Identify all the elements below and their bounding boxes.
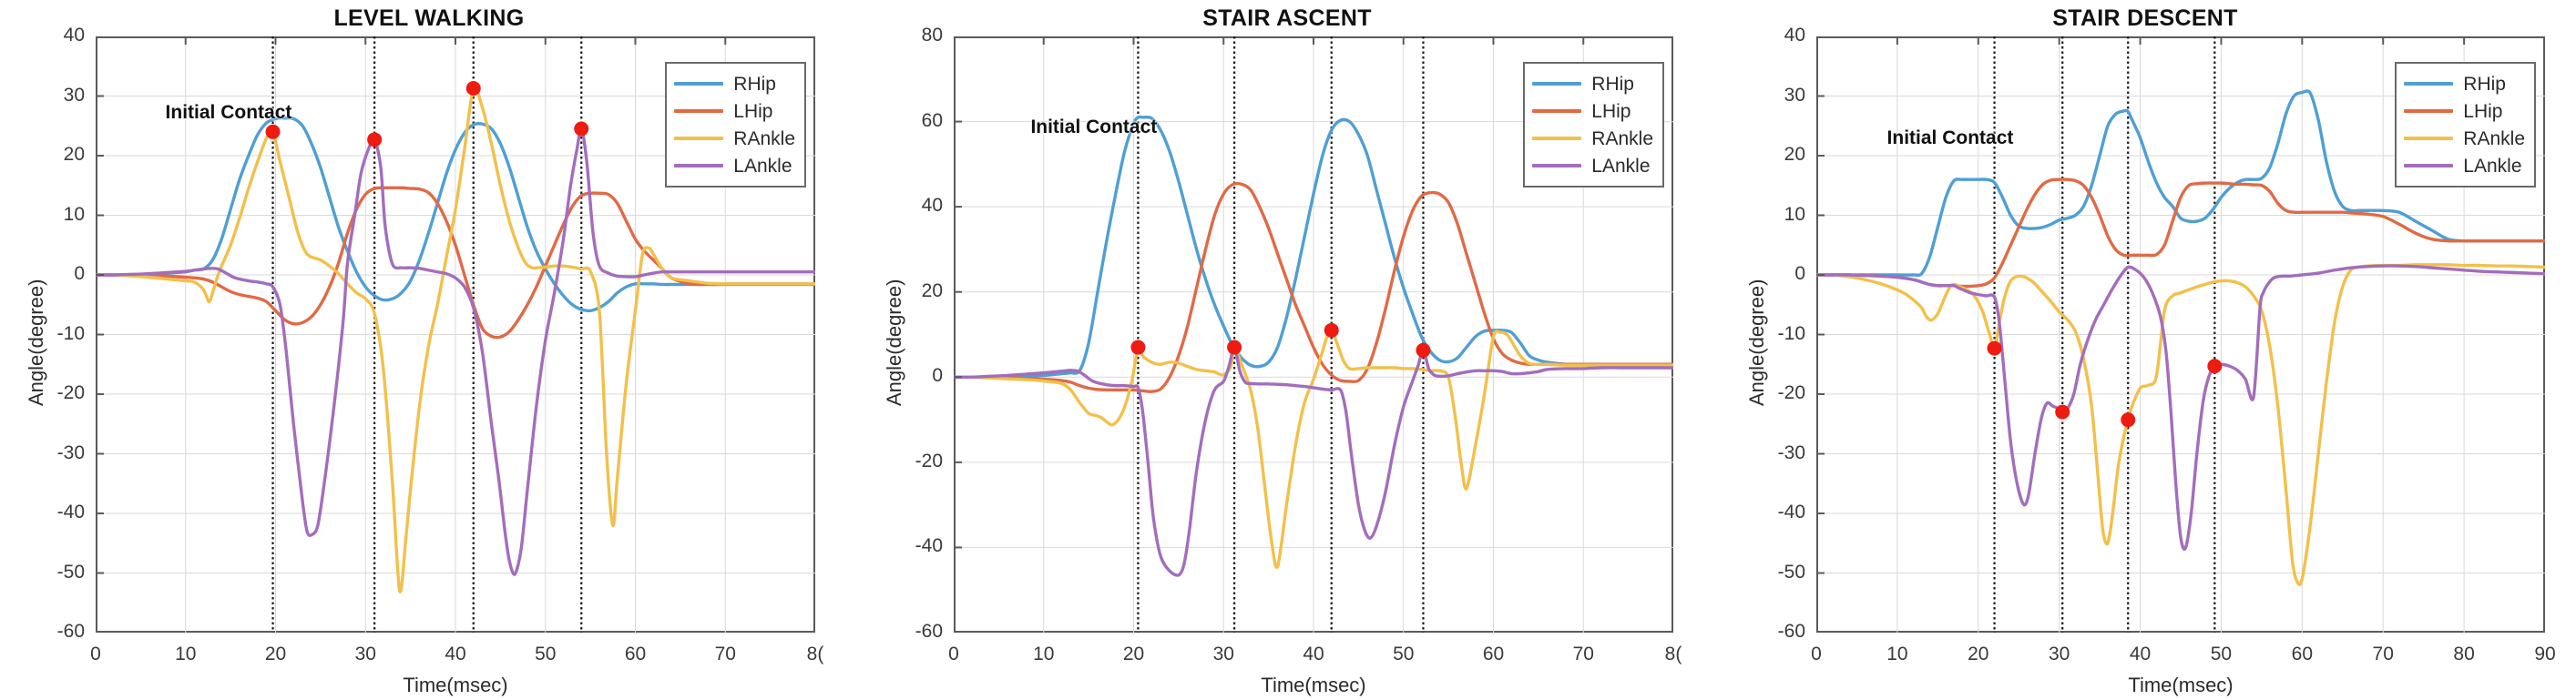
y-tick-label: 40 xyxy=(21,25,85,46)
legend-swatch-icon xyxy=(1532,137,1581,140)
y-tick-label: 40 xyxy=(879,195,943,217)
legend-swatch-icon xyxy=(674,109,723,113)
y-tick-label: -40 xyxy=(879,535,943,557)
legend-label: LHip xyxy=(733,102,772,121)
y-tick-label: -40 xyxy=(1742,502,1805,523)
x-tick-label: 8( xyxy=(779,644,852,665)
legend-item-lankle[interactable]: LAnkle xyxy=(1532,152,1653,179)
legend-label: RHip xyxy=(1591,75,1634,94)
legend-item-rankle[interactable]: RAnkle xyxy=(1532,125,1653,152)
x-tick-label: 60 xyxy=(1457,644,1530,665)
x-tick-label: 10 xyxy=(1007,644,1080,665)
x-tick-label: 50 xyxy=(1367,644,1440,665)
chart-title: STAIR ASCENT xyxy=(858,5,1716,32)
initial-contact-marker xyxy=(466,81,481,96)
x-tick-label: 10 xyxy=(1861,644,1934,665)
x-axis-label: Time(msec) xyxy=(96,674,815,697)
legend-label: RHip xyxy=(733,75,776,94)
chart-legend[interactable]: RHipLHipRAnkleLAnkle xyxy=(2395,62,2536,188)
x-tick-label: 0 xyxy=(917,644,990,665)
chart-panel-level-walking: LEVEL WALKING 403020100-10-20-30-40-50-6… xyxy=(0,0,858,700)
initial-contact-marker xyxy=(1130,340,1145,355)
x-tick-label: 40 xyxy=(1277,644,1350,665)
legend-item-rhip[interactable]: RHip xyxy=(674,70,795,97)
y-tick-label: 80 xyxy=(879,25,943,46)
chart-legend[interactable]: RHipLHipRAnkleLAnkle xyxy=(1523,62,1664,188)
legend-label: RAnkle xyxy=(2463,129,2525,148)
initial-contact-marker xyxy=(1988,341,2002,356)
legend-swatch-icon xyxy=(2404,82,2453,86)
x-tick-label: 0 xyxy=(59,644,132,665)
legend-item-lankle[interactable]: LAnkle xyxy=(674,152,795,179)
initial-contact-annotation: Initial Contact xyxy=(1887,127,2014,149)
legend-label: RHip xyxy=(2463,75,2506,94)
x-tick-label: 20 xyxy=(1098,644,1170,665)
legend-swatch-icon xyxy=(674,82,723,86)
x-tick-label: 10 xyxy=(149,644,222,665)
legend-item-lhip[interactable]: LHip xyxy=(2404,97,2525,125)
x-tick-label: 8( xyxy=(1637,644,1710,665)
legend-label: RAnkle xyxy=(733,129,795,148)
chart-panel-stair-ascent: STAIR ASCENT 806040200-20-40-60010203040… xyxy=(858,0,1716,700)
chart-title: STAIR DESCENT xyxy=(1716,5,2574,32)
x-axis-label: Time(msec) xyxy=(1816,674,2545,697)
legend-item-lankle[interactable]: LAnkle xyxy=(2404,152,2525,179)
y-axis-label: Angle(degree) xyxy=(25,279,48,405)
legend-swatch-icon xyxy=(2404,137,2453,140)
x-tick-label: 60 xyxy=(599,644,672,665)
legend-swatch-icon xyxy=(1532,164,1581,167)
x-tick-label: 30 xyxy=(329,644,402,665)
initial-contact-marker xyxy=(367,132,382,147)
series-line-lankle xyxy=(1816,266,2545,549)
legend-item-lhip[interactable]: LHip xyxy=(674,97,795,125)
y-axis-label: Angle(degree) xyxy=(1745,279,1769,405)
legend-label: LHip xyxy=(1591,102,1630,121)
x-tick-label: 80 xyxy=(2428,644,2500,665)
legend-swatch-icon xyxy=(674,137,723,140)
chart-panel-stair-descent: STAIR DESCENT 403020100-10-20-30-40-50-6… xyxy=(1716,0,2574,700)
x-tick-label: 70 xyxy=(689,644,762,665)
y-tick-label: -60 xyxy=(21,621,85,643)
legend-item-rhip[interactable]: RHip xyxy=(2404,70,2525,97)
legend-label: LHip xyxy=(2463,102,2502,121)
plot-area: 806040200-20-40-600102030405060708(Angle… xyxy=(954,36,1673,633)
x-tick-label: 50 xyxy=(2184,644,2257,665)
gait-angle-figure: LEVEL WALKING 403020100-10-20-30-40-50-6… xyxy=(0,0,2576,700)
x-tick-label: 40 xyxy=(2104,644,2177,665)
initial-contact-marker xyxy=(266,125,281,139)
x-tick-label: 30 xyxy=(2023,644,2096,665)
x-tick-label: 50 xyxy=(509,644,582,665)
y-tick-label: -60 xyxy=(879,621,943,643)
y-tick-label: 10 xyxy=(1742,204,1805,226)
legend-item-lhip[interactable]: LHip xyxy=(1532,97,1653,125)
y-tick-label: 60 xyxy=(879,110,943,132)
x-tick-label: 60 xyxy=(2265,644,2338,665)
legend-label: LAnkle xyxy=(2463,157,2521,176)
legend-item-rhip[interactable]: RHip xyxy=(1532,70,1653,97)
legend-label: LAnkle xyxy=(733,157,792,176)
initial-contact-marker xyxy=(1324,323,1339,338)
y-tick-label: 20 xyxy=(21,144,85,166)
y-tick-label: -30 xyxy=(1742,442,1805,464)
x-tick-label: 20 xyxy=(240,644,312,665)
y-axis-label: Angle(degree) xyxy=(883,279,906,405)
initial-contact-marker xyxy=(1227,340,1242,355)
y-tick-label: -50 xyxy=(21,562,85,583)
initial-contact-annotation: Initial Contact xyxy=(1030,117,1157,138)
x-axis-label: Time(msec) xyxy=(954,674,1673,697)
initial-contact-annotation: Initial Contact xyxy=(166,102,292,124)
legend-item-rankle[interactable]: RAnkle xyxy=(2404,125,2525,152)
initial-contact-marker xyxy=(2121,412,2135,427)
legend-swatch-icon xyxy=(2404,164,2453,167)
y-tick-label: -20 xyxy=(879,451,943,472)
initial-contact-marker xyxy=(2207,359,2222,373)
plot-area: 403020100-10-20-30-40-50-600102030405060… xyxy=(1816,36,2545,633)
chart-legend[interactable]: RHipLHipRAnkleLAnkle xyxy=(665,62,806,188)
x-tick-label: 30 xyxy=(1187,644,1260,665)
x-tick-label: 90 xyxy=(2509,644,2576,665)
y-tick-label: -60 xyxy=(1742,621,1805,643)
initial-contact-marker xyxy=(1416,343,1430,358)
legend-item-rankle[interactable]: RAnkle xyxy=(674,125,795,152)
y-tick-label: -50 xyxy=(1742,562,1805,583)
y-tick-label: 10 xyxy=(21,204,85,226)
legend-swatch-icon xyxy=(2404,109,2453,113)
x-tick-label: 70 xyxy=(2346,644,2419,665)
chart-title: LEVEL WALKING xyxy=(0,5,858,32)
x-tick-label: 40 xyxy=(419,644,492,665)
x-tick-label: 20 xyxy=(1942,644,2015,665)
x-tick-label: 70 xyxy=(1547,644,1620,665)
y-tick-label: 30 xyxy=(1742,85,1805,107)
y-tick-label: 30 xyxy=(21,85,85,107)
x-tick-label: 0 xyxy=(1780,644,1853,665)
y-tick-label: -40 xyxy=(21,502,85,523)
y-tick-label: 40 xyxy=(1742,25,1805,46)
initial-contact-marker xyxy=(2055,405,2070,420)
legend-label: RAnkle xyxy=(1591,129,1653,148)
legend-label: LAnkle xyxy=(1591,157,1650,176)
y-tick-label: -30 xyxy=(21,442,85,464)
y-tick-label: 20 xyxy=(1742,144,1805,166)
legend-swatch-icon xyxy=(674,164,723,167)
legend-swatch-icon xyxy=(1532,82,1581,86)
legend-swatch-icon xyxy=(1532,109,1581,113)
initial-contact-marker xyxy=(574,122,588,137)
plot-area: 403020100-10-20-30-40-50-600102030405060… xyxy=(96,36,815,633)
